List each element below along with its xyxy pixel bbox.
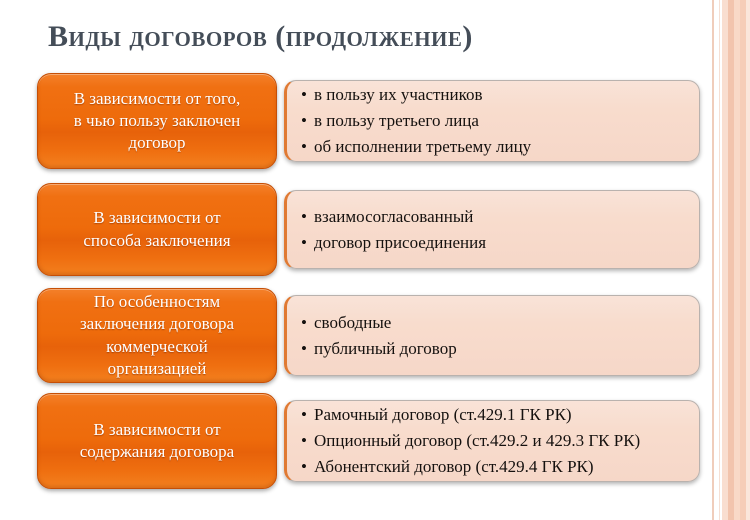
diagram-row: В зависимости отспособа заключения•взаим… <box>0 183 750 276</box>
category-label-text: По особенностямзаключения договоракоммер… <box>70 287 244 383</box>
diagram-row: В зависимости отсодержания договора•Рамо… <box>0 393 750 489</box>
bullet-dot-icon: • <box>301 82 314 108</box>
list-item: •публичный договор <box>301 336 685 362</box>
category-items-panel-3: •свободные•публичный договор <box>284 295 700 376</box>
category-items-panel-4: •Рамочный договор (ст.429.1 ГК РК)•Опцио… <box>284 400 700 482</box>
bullet-dot-icon: • <box>301 108 314 134</box>
list-item-label: свободные <box>314 310 685 336</box>
list-item: •Абонентский договор (ст.429.4 ГК РК) <box>301 454 685 480</box>
list-item: •Опционный договор (ст.429.2 и 429.3 ГК … <box>301 428 685 454</box>
category-label-box-1[interactable]: В зависимости от того,в чью пользу заклю… <box>37 73 277 169</box>
slide-canvas: Виды договоров (продолжение) В зависимос… <box>0 0 750 520</box>
diagram-row: В зависимости от того,в чью пользу заклю… <box>0 73 750 169</box>
list-item-label: Рамочный договор (ст.429.1 ГК РК) <box>314 402 685 428</box>
list-item-label: Опционный договор (ст.429.2 и 429.3 ГК Р… <box>314 428 685 454</box>
list-item-label: в пользу третьего лица <box>314 108 685 134</box>
list-item-label: взаимосогласованный <box>314 204 685 230</box>
list-item: •взаимосогласованный <box>301 204 685 230</box>
bullet-dot-icon: • <box>301 230 314 256</box>
list-item: •свободные <box>301 310 685 336</box>
bullet-dot-icon: • <box>301 310 314 336</box>
list-item: •в пользу третьего лица <box>301 108 685 134</box>
bullet-dot-icon: • <box>301 134 314 160</box>
list-item-label: в пользу их участников <box>314 82 685 108</box>
list-item: •договор присоединения <box>301 230 685 256</box>
category-items-panel-1: •в пользу их участников•в пользу третьег… <box>284 80 700 162</box>
page-title: Виды договоров (продолжение) <box>48 20 688 54</box>
list-item-label: публичный договор <box>314 336 685 362</box>
bullet-dot-icon: • <box>301 204 314 230</box>
list-item-label: договор присоединения <box>314 230 685 256</box>
category-label-box-3[interactable]: По особенностямзаключения договоракоммер… <box>37 288 277 383</box>
bullet-dot-icon: • <box>301 402 314 428</box>
category-label-text: В зависимости от того,в чью пользу заклю… <box>64 84 251 158</box>
list-item: •Рамочный договор (ст.429.1 ГК РК) <box>301 402 685 428</box>
category-items-panel-2: •взаимосогласованный•договор присоединен… <box>284 190 700 269</box>
category-label-box-2[interactable]: В зависимости отспособа заключения <box>37 183 277 276</box>
category-label-text: В зависимости отсодержания договора <box>70 415 244 467</box>
category-label-box-4[interactable]: В зависимости отсодержания договора <box>37 393 277 489</box>
bullet-dot-icon: • <box>301 454 314 480</box>
bullet-dot-icon: • <box>301 336 314 362</box>
category-label-text: В зависимости отспособа заключения <box>73 203 240 255</box>
bullet-dot-icon: • <box>301 428 314 454</box>
list-item-label: об исполнении третьему лицу <box>314 134 685 160</box>
list-item-label: Абонентский договор (ст.429.4 ГК РК) <box>314 454 685 480</box>
diagram-row: По особенностямзаключения договоракоммер… <box>0 288 750 383</box>
list-item: •в пользу их участников <box>301 82 685 108</box>
list-item: •об исполнении третьему лицу <box>301 134 685 160</box>
